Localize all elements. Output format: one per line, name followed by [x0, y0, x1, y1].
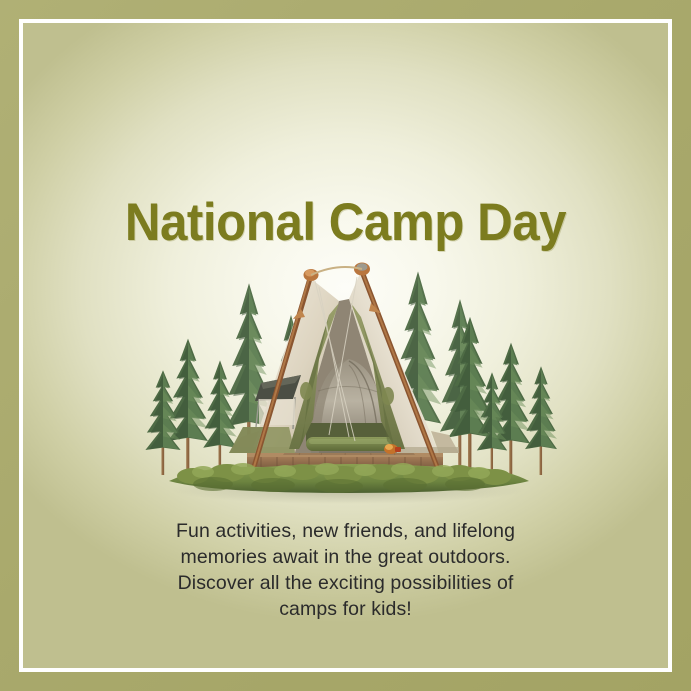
body-line-2: memories await in the great outdoors.	[23, 544, 668, 570]
camping-illustration	[143, 241, 553, 506]
body-line-3: Discover all the exciting possibilities …	[23, 570, 668, 596]
grass-moss-island	[169, 463, 529, 493]
body-line-4: camps for kids!	[23, 596, 668, 622]
poster-canvas: National Camp Day	[0, 0, 691, 691]
poster-content-area: National Camp Day	[23, 23, 668, 668]
body-copy: Fun activities, new friends, and lifelon…	[23, 518, 668, 622]
body-line-1: Fun activities, new friends, and lifelon…	[23, 518, 668, 544]
tent-ridge-rope	[311, 267, 362, 275]
tree-group-left	[145, 339, 236, 475]
tree-group-right	[448, 317, 557, 475]
